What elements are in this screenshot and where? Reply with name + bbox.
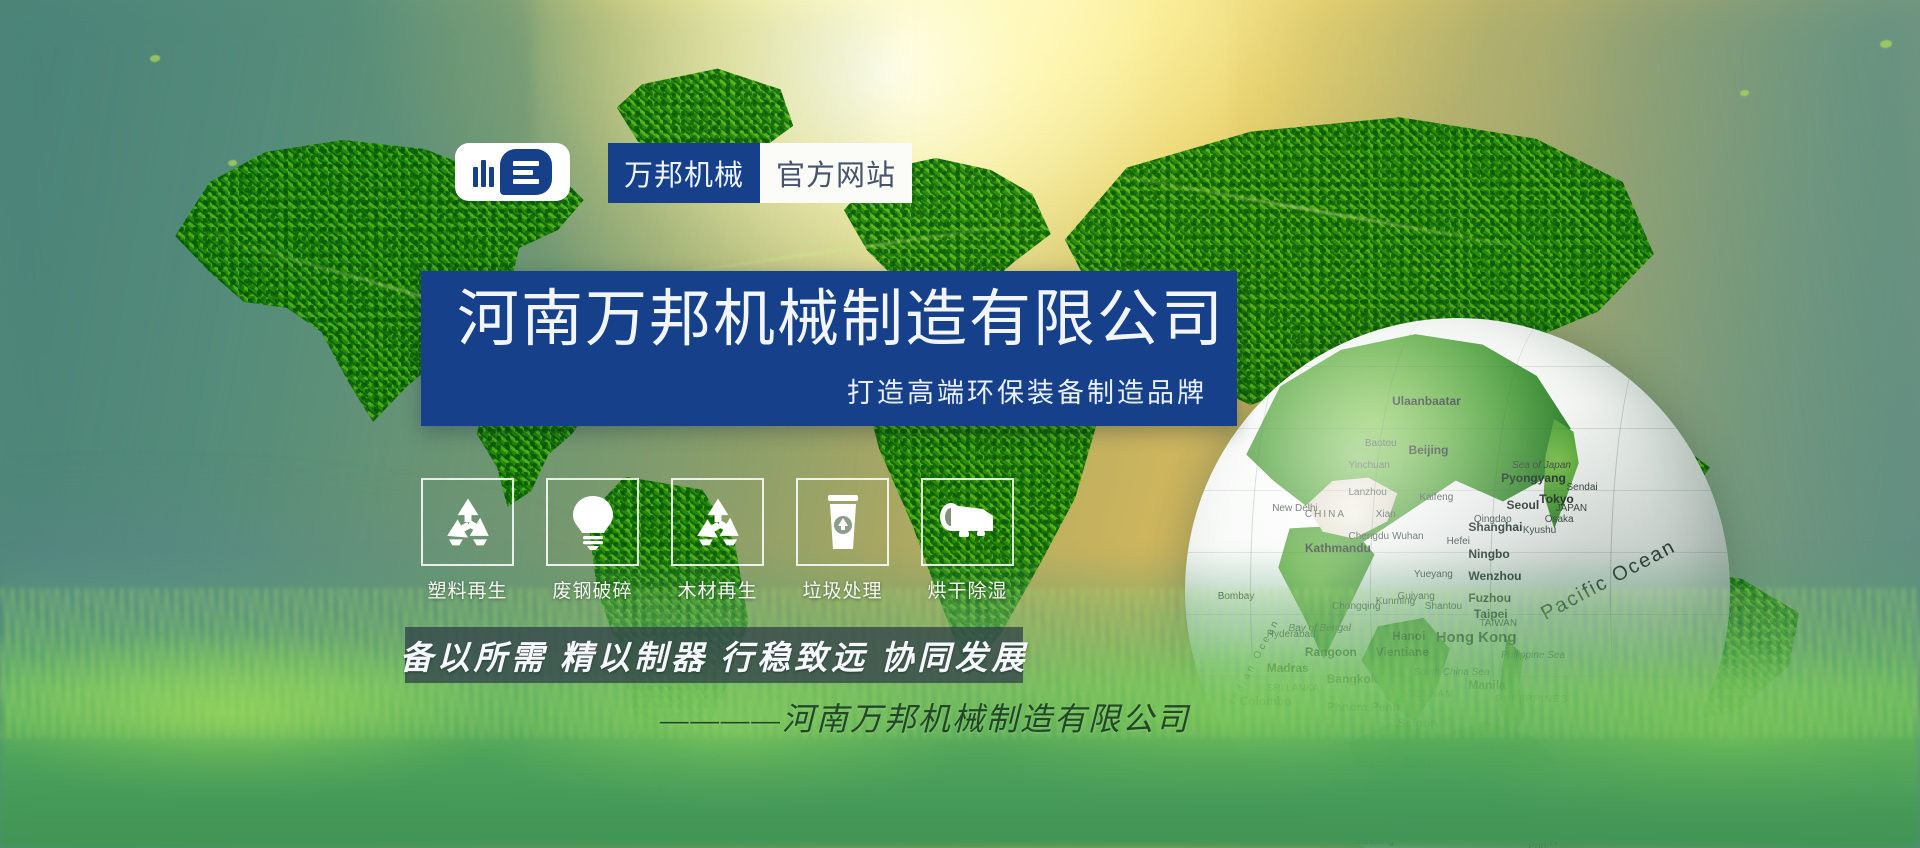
company-logo[interactable] [455,143,570,201]
feature-icon-frame [546,478,639,566]
page-title: 河南万邦机械制造有限公司 [457,289,1225,351]
feature-item-drying-dehumidifying[interactable]: 烘干除湿 [921,478,1014,603]
slogan-signature: ————河南万邦机械制造有限公司 [660,694,1180,740]
feature-item-scrap-steel-crushing[interactable]: 废钢破碎 [546,478,639,603]
feature-label: 烘干除湿 [921,576,1014,603]
dryer-blower-icon [937,500,999,544]
feature-item-wood-recycling[interactable]: 木材再生 [671,478,764,603]
feature-icon-frame [796,478,889,566]
feature-icon-frame [671,478,764,566]
feature-icon-frame [421,478,514,566]
feature-item-waste-treatment[interactable]: 垃圾处理 [796,478,889,603]
badge-company-short-name[interactable]: 万邦机械 [608,143,760,203]
badge-official-website[interactable]: 官方网站 [760,143,912,203]
slogan-text: 备以所需 精以制器 行稳致远 协同发展 [400,631,1029,679]
feature-icon-frame [921,478,1014,566]
feature-label: 垃圾处理 [796,576,889,603]
b-speech-bubble-icon [500,149,552,195]
recycle-icon [690,496,746,548]
promo-banner: Pacific Ocean Indian Ocean Ulaanbaatar B… [0,0,1920,848]
feature-label: 废钢破碎 [546,576,639,603]
feature-icon-row: 塑料再生 废钢破碎 [421,478,1014,603]
slogan-bar: 备以所需 精以制器 行稳致远 协同发展 [405,627,1023,683]
title-panel: 河南万邦机械制造有限公司 打造高端环保装备制造品牌 [421,271,1237,426]
page-subtitle: 打造高端环保装备制造品牌 [847,371,1207,410]
header-logo-bar: 万邦机械 官方网站 [455,143,912,203]
feature-item-plastic-recycling[interactable]: 塑料再生 [421,478,514,603]
lightbulb-icon [569,494,617,550]
recycle-icon [440,496,496,548]
feature-label: 塑料再生 [421,576,514,603]
trash-bin-icon [822,493,864,551]
w-bars-icon [473,157,494,187]
feature-label: 木材再生 [671,576,764,603]
